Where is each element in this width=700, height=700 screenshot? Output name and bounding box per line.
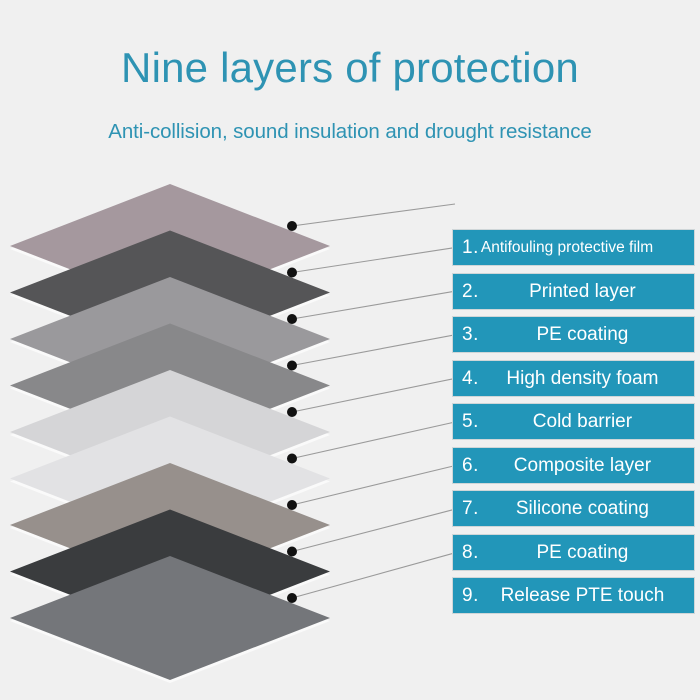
layer-label-row[interactable]: 6.Composite layer	[452, 447, 695, 484]
layer-stack-diagram	[0, 180, 440, 640]
layer-number: 4.	[453, 369, 479, 388]
layer-name: Composite layer	[479, 455, 694, 476]
page-title: Nine layers of protection	[0, 42, 700, 94]
layer-label-row[interactable]: 7.Silicone coating	[452, 490, 695, 527]
layer-label-row[interactable]: 2.Printed layer	[452, 273, 695, 310]
layer-label-row[interactable]: 4.High density foam	[452, 360, 695, 397]
nine-layers-infographic: Nine layers of protection Anti-collision…	[0, 0, 700, 700]
layer-name: Cold barrier	[479, 411, 694, 432]
layer-number: 3.	[453, 325, 479, 344]
layer-number: 5.	[453, 412, 479, 431]
layer-name: Printed layer	[479, 281, 694, 302]
page-subtitle: Anti-collision, sound insulation and dro…	[0, 118, 700, 146]
layer-name: Release PTE touch	[479, 585, 694, 606]
layer-number: 8.	[453, 543, 479, 562]
layer-label-row[interactable]: 5.Cold barrier	[452, 403, 695, 440]
layer-name: Silicone coating	[479, 498, 694, 519]
layer-label-list: 1.Antifouling protective film2.Printed l…	[452, 229, 695, 614]
layer-label-row[interactable]: 1.Antifouling protective film	[452, 229, 695, 266]
layer-name: Antifouling protective film	[479, 237, 694, 258]
layer-stack-svg	[0, 180, 440, 640]
heading-area: Nine layers of protection Anti-collision…	[0, 0, 700, 170]
layer-number: 2.	[453, 282, 479, 301]
layer-name: PE coating	[479, 542, 694, 563]
layer-number: 9.	[453, 586, 479, 605]
layer-name: High density foam	[479, 368, 694, 389]
layer-label-row[interactable]: 8.PE coating	[452, 534, 695, 571]
layer-number: 7.	[453, 499, 479, 518]
layer-name: PE coating	[479, 324, 694, 345]
layer-label-row[interactable]: 9.Release PTE touch	[452, 577, 695, 614]
layer-number: 6.	[453, 456, 479, 475]
layer-label-row[interactable]: 3.PE coating	[452, 316, 695, 353]
layer-number: 1.	[453, 238, 479, 257]
